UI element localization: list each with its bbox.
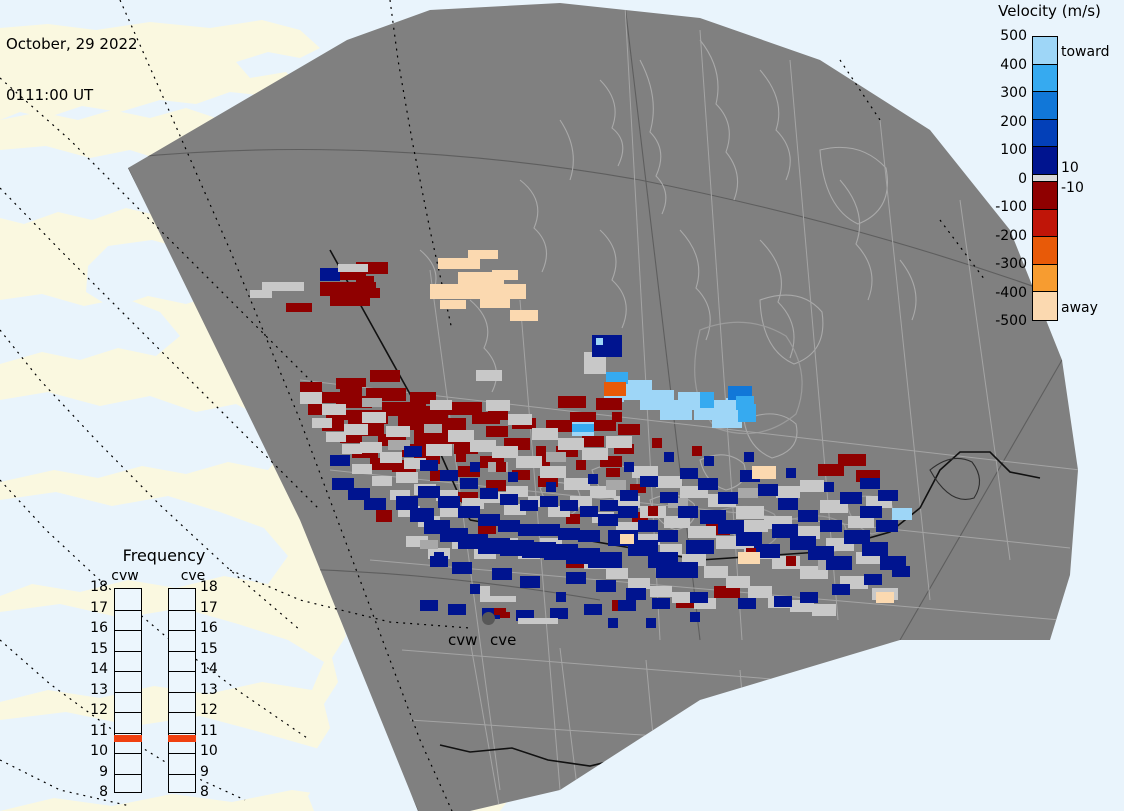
radar-site-dot	[482, 612, 495, 625]
gauge-tickline	[169, 774, 195, 775]
colorbar-band--100	[1033, 182, 1057, 210]
gauge-tick-cve-13: 13	[200, 682, 224, 698]
gauge-tick-cvw-16: 16	[84, 620, 108, 636]
colorbar-band-500	[1033, 37, 1057, 65]
frequency-title: Frequency	[84, 546, 244, 565]
gauge-tickline	[169, 692, 195, 693]
colorbar-positive-threshold: 10	[1061, 160, 1079, 176]
colorbar-tick--200: -200	[975, 228, 1027, 244]
gauge-marker-cvw	[114, 735, 142, 742]
gauge-tick-cvw-8: 8	[84, 784, 108, 800]
gauge-tick-cve-10: 10	[200, 743, 224, 759]
frequency-panel: Frequency cvw 18171615141312111098 cve 1…	[84, 546, 244, 791]
timestamp-date: October, 29 2022	[6, 36, 138, 53]
gauge-tick-cve-12: 12	[200, 702, 224, 718]
gauge-tickline	[115, 712, 141, 713]
gauge-tick-cve-9: 9	[200, 764, 224, 780]
colorbar-gradient	[1032, 36, 1058, 321]
gauge-tickline	[115, 651, 141, 652]
colorbar-tick-500: 500	[975, 28, 1027, 44]
gauge-tickline	[169, 671, 195, 672]
velocity-colorbar: Velocity (m/s) 5004003002001000-100-200-…	[975, 0, 1124, 330]
gauge-tick-cvw-10: 10	[84, 743, 108, 759]
colorbar-tick--400: -400	[975, 285, 1027, 301]
gauge-tickline	[115, 774, 141, 775]
colorbar-band-200	[1033, 120, 1057, 148]
colorbar-title: Velocity (m/s)	[975, 2, 1124, 20]
gauge-tick-cvw-18: 18	[84, 579, 108, 595]
colorbar-tick-0: 0	[975, 171, 1027, 187]
gauge-scale-cve	[168, 588, 196, 793]
gauge-tick-cvw-14: 14	[84, 661, 108, 677]
colorbar-tick--100: -100	[975, 199, 1027, 215]
gauge-tick-cvw-9: 9	[84, 764, 108, 780]
gauge-tickline	[169, 733, 195, 734]
colorbar-tick-300: 300	[975, 85, 1027, 101]
colorbar-tick-100: 100	[975, 142, 1027, 158]
colorbar-band-100	[1033, 147, 1057, 175]
colorbar-away-label: away	[1061, 300, 1098, 316]
timestamp-block: October, 29 2022 0111:00 UT	[6, 2, 138, 138]
gauge-tickline	[169, 610, 195, 611]
gauge-tick-cve-15: 15	[200, 641, 224, 657]
gauge-tick-cvw-15: 15	[84, 641, 108, 657]
gauge-tickline	[115, 610, 141, 611]
colorbar-tick-400: 400	[975, 57, 1027, 73]
gauge-tick-cvw-13: 13	[84, 682, 108, 698]
colorbar-band-0	[1033, 175, 1057, 182]
gauge-marker-cve	[168, 735, 196, 742]
gauge-tickline	[115, 671, 141, 672]
gauge-tickline	[169, 753, 195, 754]
gauge-tick-cve-14: 14	[200, 661, 224, 677]
colorbar-tick--500: -500	[975, 313, 1027, 329]
colorbar-toward-label: toward	[1061, 44, 1109, 60]
gauge-tick-cvw-17: 17	[84, 600, 108, 616]
colorbar-tick--300: -300	[975, 256, 1027, 272]
colorbar-band--200	[1033, 210, 1057, 238]
colorbar-band--500	[1033, 292, 1057, 320]
superdarn-fitacf-map: October, 29 2022 0111:00 UT Velocity (m/…	[0, 0, 1124, 811]
gauge-tickline	[169, 651, 195, 652]
gauge-tick-cve-17: 17	[200, 600, 224, 616]
gauge-scale-cvw	[114, 588, 142, 793]
radar-site-label-cvw: cvw	[448, 631, 477, 649]
gauge-tickline	[115, 630, 141, 631]
timestamp-time: 0111:00 UT	[6, 87, 138, 104]
gauge-tick-cve-11: 11	[200, 723, 224, 739]
gauge-tick-cve-18: 18	[200, 579, 224, 595]
gauge-tickline	[115, 733, 141, 734]
gauge-tick-cvw-11: 11	[84, 723, 108, 739]
gauge-tickline	[115, 753, 141, 754]
colorbar-band--300	[1033, 237, 1057, 265]
gauge-tickline	[169, 712, 195, 713]
gauge-tick-cve-16: 16	[200, 620, 224, 636]
gauge-tickline	[169, 630, 195, 631]
colorbar-negative-threshold: -10	[1061, 180, 1084, 196]
gauge-tickline	[115, 692, 141, 693]
colorbar-tick-200: 200	[975, 114, 1027, 130]
gauge-tick-cve-8: 8	[200, 784, 224, 800]
colorbar-band--400	[1033, 265, 1057, 293]
gauge-tick-cvw-12: 12	[84, 702, 108, 718]
colorbar-band-400	[1033, 65, 1057, 93]
colorbar-band-300	[1033, 92, 1057, 120]
radar-site-label-cve: cve	[490, 631, 516, 649]
